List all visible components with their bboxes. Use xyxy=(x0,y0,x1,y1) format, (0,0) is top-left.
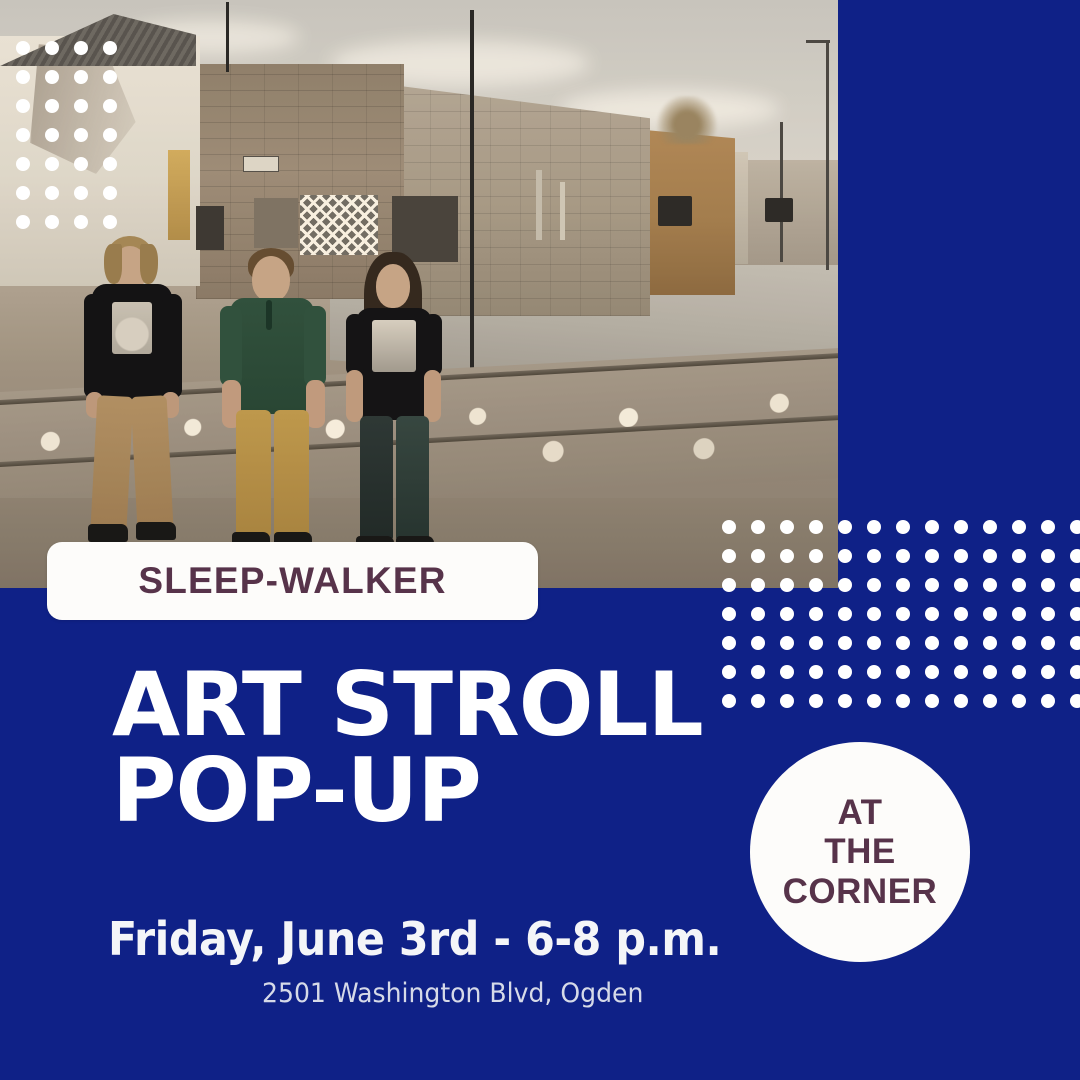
dot xyxy=(1041,549,1055,563)
dot xyxy=(751,578,765,592)
dot xyxy=(1070,665,1080,679)
dot xyxy=(751,694,765,708)
dot xyxy=(1041,694,1055,708)
dot xyxy=(722,694,736,708)
venue-badge-line-3: CORNER xyxy=(783,872,938,911)
band-member-center xyxy=(218,248,328,548)
dot xyxy=(1041,607,1055,621)
dot xyxy=(103,157,117,171)
band-member-left xyxy=(78,236,188,548)
dot xyxy=(45,186,59,200)
dot xyxy=(809,665,823,679)
dot xyxy=(16,70,30,84)
event-datetime: Friday, June 3rd - 6-8 p.m. xyxy=(108,912,721,966)
dot xyxy=(1012,607,1026,621)
dot xyxy=(954,520,968,534)
venue-badge-line-1: AT xyxy=(837,793,882,832)
dot xyxy=(983,578,997,592)
dot xyxy=(780,636,794,650)
dot xyxy=(809,520,823,534)
dot xyxy=(751,607,765,621)
dot xyxy=(896,665,910,679)
dot xyxy=(780,665,794,679)
dot xyxy=(896,578,910,592)
dot xyxy=(1012,520,1026,534)
dot xyxy=(103,99,117,113)
dot xyxy=(954,665,968,679)
event-address: 2501 Washington Blvd, Ogden xyxy=(262,978,643,1009)
dot xyxy=(838,665,852,679)
post xyxy=(560,182,565,240)
legs-pants xyxy=(274,410,309,536)
dot xyxy=(925,549,939,563)
dot xyxy=(867,520,881,534)
dot xyxy=(1041,578,1055,592)
dot xyxy=(45,157,59,171)
page-title: ART STROLL POP-UP xyxy=(112,662,703,834)
dot xyxy=(925,578,939,592)
dot xyxy=(867,607,881,621)
dot xyxy=(74,41,88,55)
dot xyxy=(954,636,968,650)
lattice-fence xyxy=(300,195,378,255)
dot xyxy=(954,607,968,621)
dot xyxy=(867,665,881,679)
tee-graphic xyxy=(112,302,152,354)
arm-right xyxy=(162,294,182,398)
dot xyxy=(1012,549,1026,563)
debris xyxy=(196,206,224,250)
head xyxy=(376,264,410,308)
dot xyxy=(925,665,939,679)
dot xyxy=(16,41,30,55)
dot xyxy=(103,70,117,84)
forearm-left xyxy=(346,370,363,422)
dot xyxy=(925,636,939,650)
dot xyxy=(867,578,881,592)
hair-side xyxy=(104,244,122,284)
dot xyxy=(954,549,968,563)
dot xyxy=(751,520,765,534)
dot xyxy=(867,694,881,708)
street-lamp-post xyxy=(780,122,783,262)
dot-grid-right xyxy=(722,520,1080,723)
torso-shirt xyxy=(230,298,314,414)
dot xyxy=(16,99,30,113)
dot xyxy=(722,607,736,621)
dot xyxy=(925,520,939,534)
dot xyxy=(809,636,823,650)
dot xyxy=(45,41,59,55)
dot xyxy=(983,636,997,650)
dot xyxy=(954,578,968,592)
hair-side xyxy=(140,244,158,284)
utility-pole xyxy=(226,2,229,72)
band-member-right xyxy=(340,252,448,552)
dot xyxy=(722,665,736,679)
headline-line-2: POP-UP xyxy=(112,748,703,834)
dot xyxy=(838,549,852,563)
dot xyxy=(838,694,852,708)
dot xyxy=(780,607,794,621)
dot xyxy=(16,157,30,171)
dot xyxy=(896,694,910,708)
dot xyxy=(1012,694,1026,708)
dot xyxy=(751,636,765,650)
dot xyxy=(983,549,997,563)
dumpster xyxy=(765,198,793,222)
street-lamp-post xyxy=(826,40,829,270)
dot xyxy=(722,549,736,563)
dot xyxy=(1070,549,1080,563)
dot xyxy=(16,186,30,200)
dot xyxy=(896,520,910,534)
tree xyxy=(655,96,719,144)
dot xyxy=(74,70,88,84)
dot xyxy=(103,215,117,229)
dot xyxy=(780,694,794,708)
forearm-right xyxy=(424,370,441,422)
dot xyxy=(1070,520,1080,534)
band-name-badge: SLEEP-WALKER xyxy=(47,542,538,620)
dot xyxy=(103,41,117,55)
dot xyxy=(751,665,765,679)
legs-jeans xyxy=(360,416,393,540)
dot xyxy=(74,186,88,200)
dot xyxy=(780,549,794,563)
dot xyxy=(838,520,852,534)
dot xyxy=(103,128,117,142)
street-lamp-arm xyxy=(806,40,830,43)
event-poster: SLEEP-WALKER ART STROLL POP-UP Friday, J… xyxy=(0,0,1080,1080)
dot xyxy=(867,549,881,563)
dot-grid-top-left xyxy=(16,41,132,244)
legs-pants xyxy=(236,410,271,536)
dot xyxy=(1070,694,1080,708)
yellow-door xyxy=(168,150,190,240)
shoe xyxy=(136,522,176,540)
dot xyxy=(809,694,823,708)
band-name-label: SLEEP-WALKER xyxy=(138,560,446,602)
dot xyxy=(16,215,30,229)
dot xyxy=(1070,578,1080,592)
one-way-sign xyxy=(243,156,279,172)
dot xyxy=(838,578,852,592)
dot xyxy=(1012,665,1026,679)
dot xyxy=(838,636,852,650)
dot xyxy=(983,665,997,679)
dot xyxy=(1041,520,1055,534)
arm-left xyxy=(220,306,242,386)
dot xyxy=(1041,636,1055,650)
post xyxy=(536,170,542,240)
legs-jeans xyxy=(396,416,429,540)
dot xyxy=(983,607,997,621)
utility-pole xyxy=(470,10,474,400)
polo-placket xyxy=(266,300,272,330)
dot xyxy=(1070,607,1080,621)
dot xyxy=(780,578,794,592)
dot xyxy=(780,520,794,534)
tee-graphic xyxy=(372,320,416,372)
dot xyxy=(74,99,88,113)
dot xyxy=(896,607,910,621)
dot xyxy=(103,186,117,200)
dot xyxy=(45,128,59,142)
dot xyxy=(1012,636,1026,650)
dot xyxy=(954,694,968,708)
shoe xyxy=(88,524,128,542)
arm-left xyxy=(84,294,104,398)
venue-badge: AT THE CORNER xyxy=(750,742,970,962)
arm-left xyxy=(346,314,364,376)
dot xyxy=(925,694,939,708)
dot xyxy=(74,128,88,142)
dumpster xyxy=(658,196,692,226)
dot xyxy=(809,549,823,563)
venue-badge-line-2: THE xyxy=(824,832,896,871)
social-handle-wrap: @sleep.walker.band xyxy=(932,80,992,500)
dot xyxy=(1012,578,1026,592)
legs-pants xyxy=(131,395,174,529)
dot xyxy=(751,549,765,563)
dot xyxy=(867,636,881,650)
dot xyxy=(722,636,736,650)
dot xyxy=(74,215,88,229)
legs-pants xyxy=(91,395,134,529)
dot xyxy=(809,578,823,592)
dot xyxy=(722,520,736,534)
dot xyxy=(983,520,997,534)
dot xyxy=(722,578,736,592)
dot xyxy=(1070,636,1080,650)
dot xyxy=(896,636,910,650)
arm-right xyxy=(304,306,326,386)
dot xyxy=(45,99,59,113)
dot xyxy=(838,607,852,621)
dot xyxy=(809,607,823,621)
dot xyxy=(983,694,997,708)
dot xyxy=(16,128,30,142)
dot xyxy=(1041,665,1055,679)
arm-right xyxy=(424,314,442,376)
dot xyxy=(925,607,939,621)
dot xyxy=(45,215,59,229)
debris xyxy=(254,198,298,248)
dot xyxy=(45,70,59,84)
dot xyxy=(896,549,910,563)
head xyxy=(252,256,290,302)
dot xyxy=(74,157,88,171)
